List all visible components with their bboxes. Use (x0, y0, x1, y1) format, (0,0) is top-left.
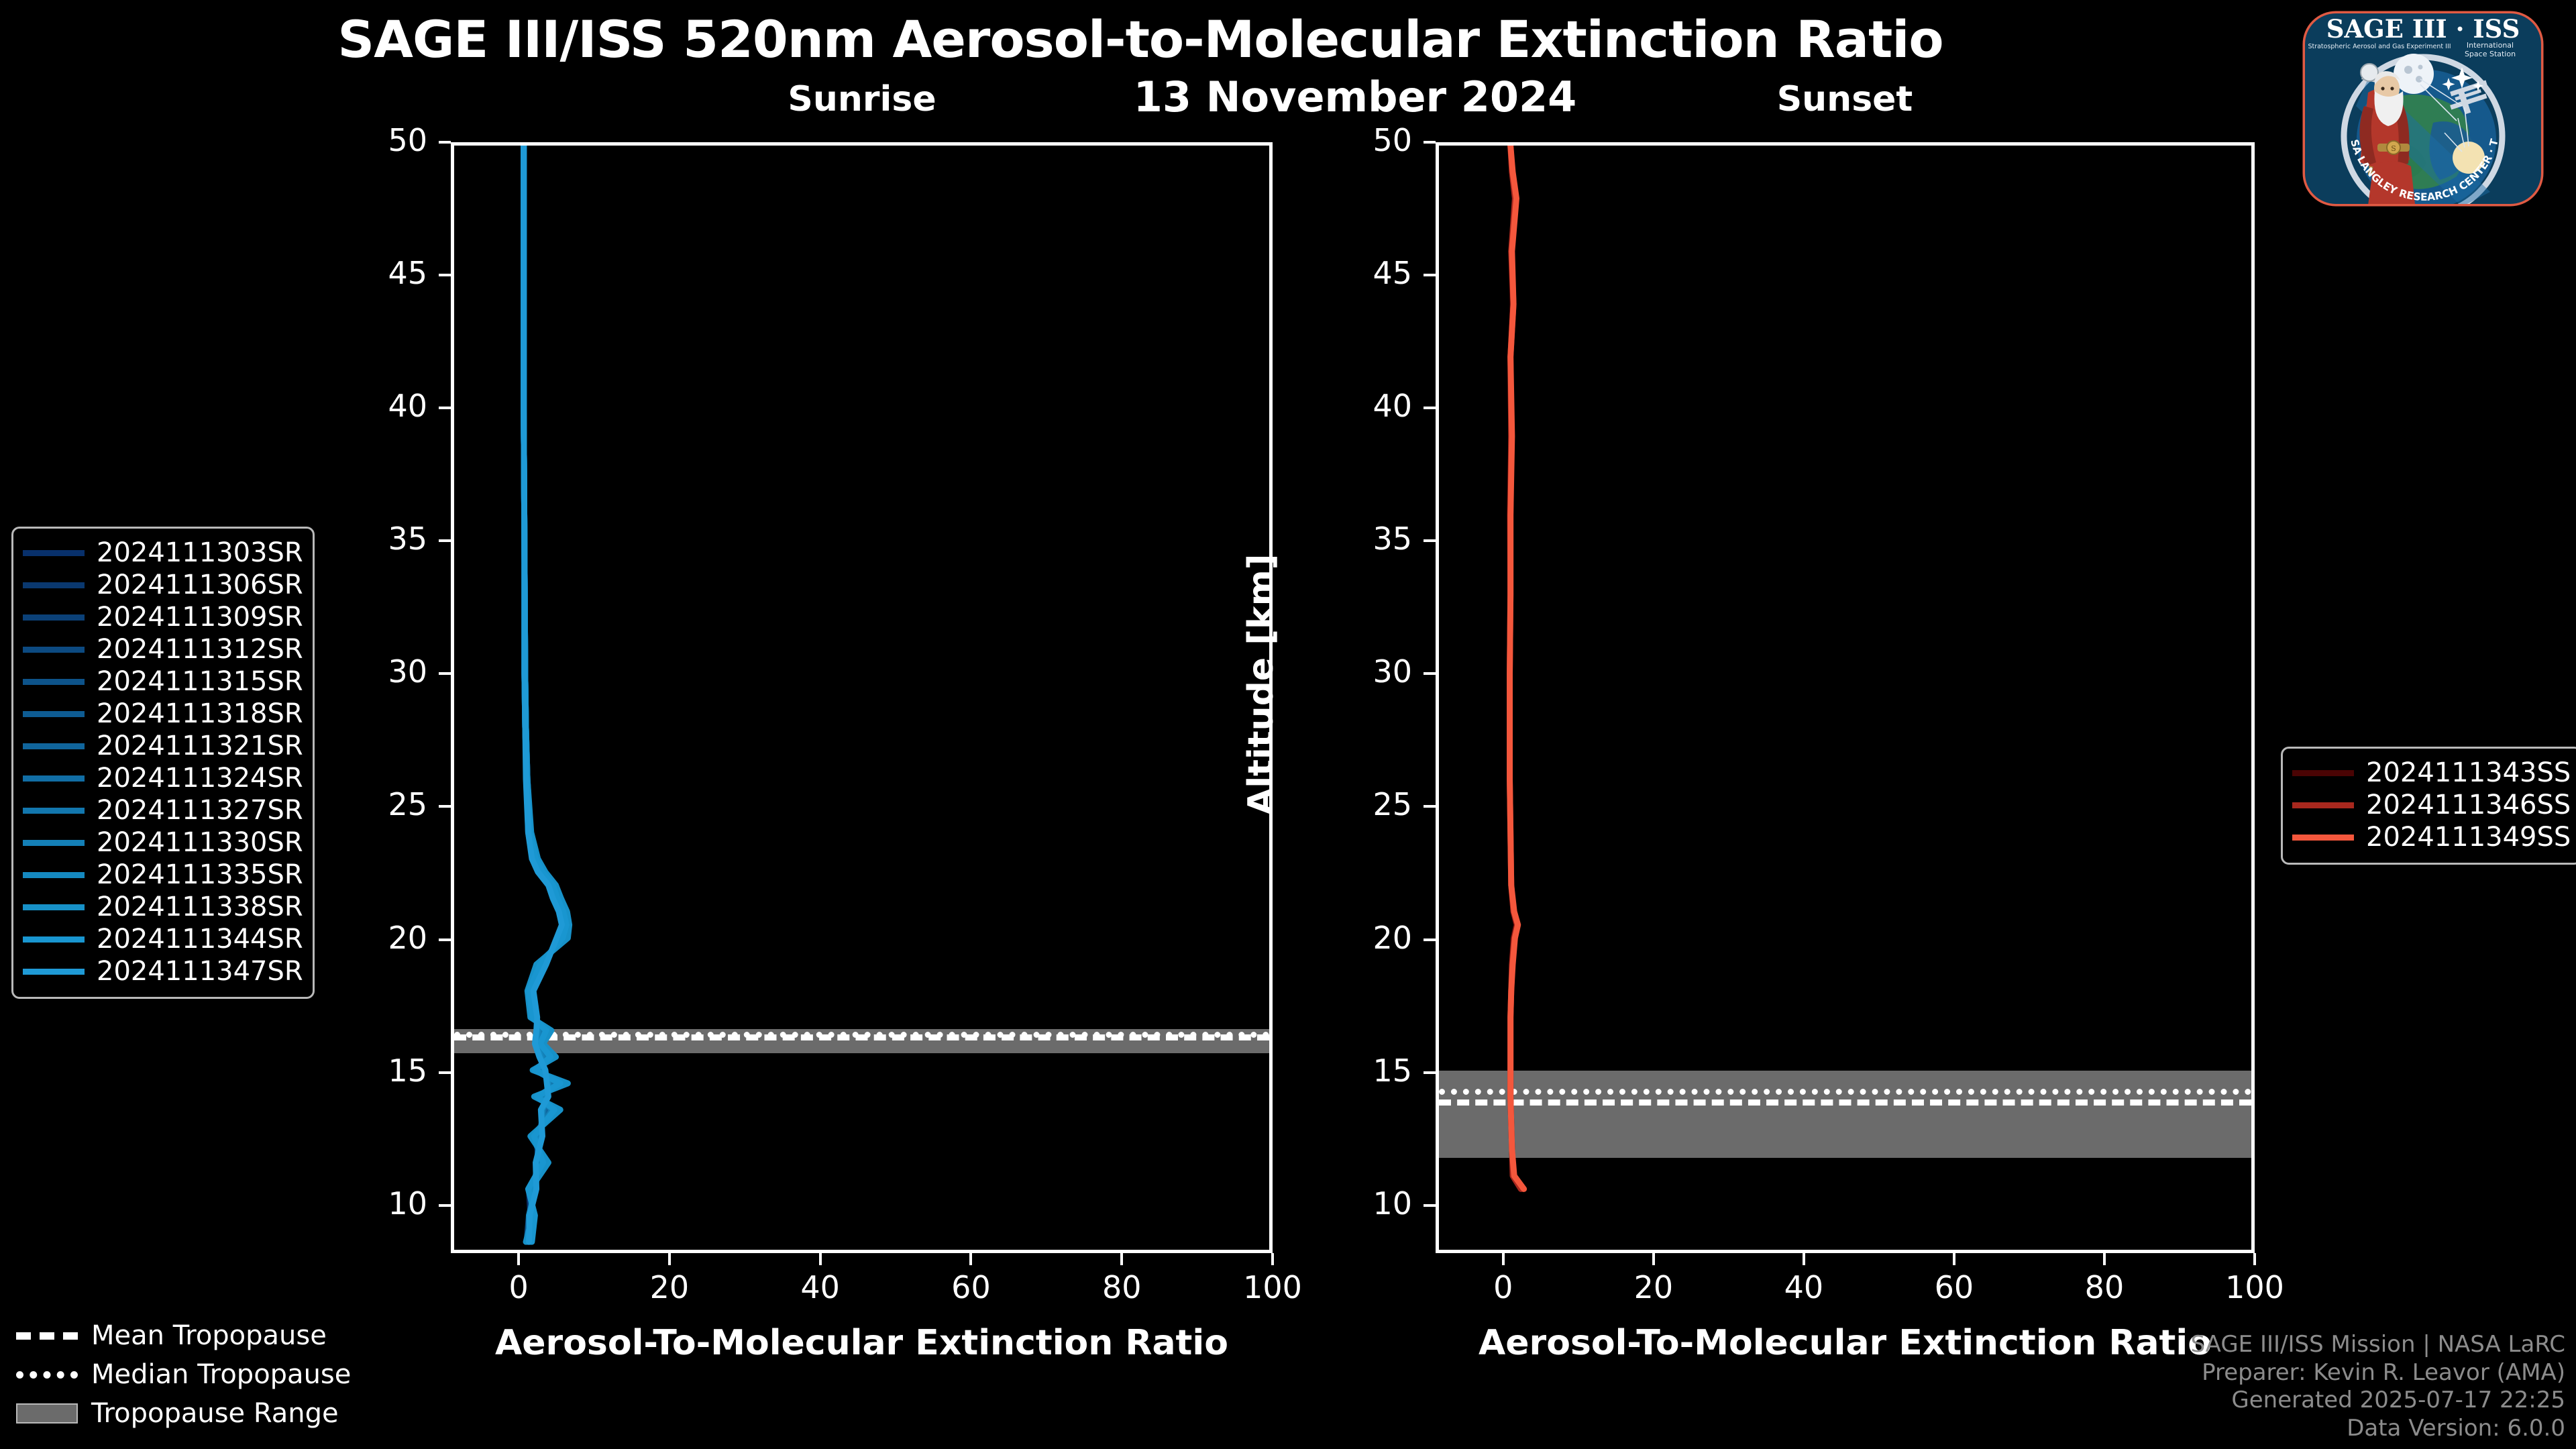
sunrise-legend-item-color-swatch (23, 904, 85, 910)
sunrise-legend-item-color-swatch (23, 582, 85, 588)
sunrise-legend-item-label: 2024111347SR (97, 956, 303, 987)
x-tick-label: 40 (767, 1269, 874, 1305)
sunrise-legend-item-color-swatch (23, 840, 85, 846)
profile-traces (454, 146, 1269, 1250)
sunset-legend-item-label: 2024111343SS (2366, 757, 2571, 788)
sunrise-legend-item-label: 2024111309SR (97, 602, 303, 633)
x-tick-mark (819, 1253, 822, 1265)
y-tick-mark (1424, 407, 1436, 409)
y-tick-label: 40 (297, 388, 427, 424)
sunrise-legend-item-label: 2024111318SR (97, 698, 303, 729)
sunrise-legend-item-row[interactable]: 2024111318SR (23, 698, 303, 730)
date-subtitle: 13 November 2024 (1087, 72, 1623, 121)
logo-subtitle-left: Stratospheric Aerosol and Gas Experiment… (2308, 43, 2451, 50)
logo-subtitle-right-1: International (2467, 41, 2514, 50)
y-tick-label: 30 (297, 653, 427, 690)
y-tick-label: 35 (297, 521, 427, 557)
sunrise-legend-item-color-swatch (23, 711, 85, 717)
x-axis-label: Aerosol-To-Molecular Extinction Ratio (1436, 1323, 2255, 1363)
key-row-range: Tropopause Range (16, 1394, 351, 1433)
sunrise-legend-item-label: 2024111344SR (97, 924, 303, 955)
dashed-line-icon (16, 1332, 78, 1340)
sunset-legend[interactable]: 2024111343SS2024111346SS2024111349SS (2281, 747, 2576, 865)
key-label-median: Median Tropopause (91, 1359, 351, 1390)
sunrise-legend-item-color-swatch (23, 647, 85, 653)
y-tick-label: 25 (1281, 786, 1412, 822)
sunrise-legend-item-label: 2024111315SR (97, 666, 303, 697)
x-tick-label: 0 (465, 1269, 572, 1305)
x-tick-label: 20 (1600, 1269, 1707, 1305)
sunset-legend-item-row[interactable]: 2024111343SS (2292, 757, 2571, 789)
sunrise-legend-item-color-swatch (23, 969, 85, 975)
sunset-plot-panel (1436, 142, 2255, 1253)
credits-block: SAGE III/ISS Mission | NASA LaRC Prepare… (2190, 1331, 2565, 1442)
sunrise-legend-item-color-swatch (23, 743, 85, 749)
y-tick-mark (439, 1071, 451, 1074)
y-tick-mark (1424, 805, 1436, 808)
x-tick-label: 80 (2051, 1269, 2158, 1305)
y-axis-label: Altitude [km] (1241, 553, 1281, 815)
sunrise-legend-item-label: 2024111303SR (97, 537, 303, 568)
key-label-range: Tropopause Range (91, 1398, 339, 1429)
y-tick-label: 10 (1281, 1185, 1412, 1222)
x-tick-label: 100 (1219, 1269, 1326, 1305)
sunset-legend-item-color-swatch (2292, 802, 2354, 808)
credit-line-generated: Generated 2025-07-17 22:25 (2190, 1387, 2565, 1414)
sunrise-plot-panel (451, 142, 1273, 1253)
y-tick-mark (1424, 1071, 1436, 1074)
sunset-legend-item-row[interactable]: 2024111346SS (2292, 789, 2571, 821)
y-tick-label: 20 (297, 920, 427, 956)
x-tick-label: 40 (1750, 1269, 1858, 1305)
x-tick-mark (1652, 1253, 1655, 1265)
y-tick-mark (439, 407, 451, 409)
x-tick-label: 80 (1068, 1269, 1175, 1305)
sunrise-legend-item-color-swatch (23, 550, 85, 556)
y-tick-mark (439, 274, 451, 276)
y-tick-mark (439, 1204, 451, 1207)
sunset-legend-item-label: 2024111349SS (2366, 822, 2571, 853)
y-tick-mark (1424, 141, 1436, 144)
sunset-legend-item-row[interactable]: 2024111349SS (2292, 821, 2571, 853)
x-tick-mark (1803, 1253, 1805, 1265)
sunrise-legend-item-row[interactable]: 2024111321SR (23, 730, 303, 762)
x-tick-mark (517, 1253, 520, 1265)
sunrise-legend-item-label: 2024111306SR (97, 570, 303, 600)
y-tick-label: 10 (297, 1185, 427, 1222)
sunrise-legend[interactable]: 2024111303SR2024111306SR2024111309SR2024… (11, 527, 315, 999)
y-tick-mark (1424, 539, 1436, 542)
sunrise-legend-item-color-swatch (23, 872, 85, 878)
y-tick-label: 20 (1281, 920, 1412, 956)
page-title: SAGE III/ISS 520nm Aerosol-to-Molecular … (0, 9, 2281, 69)
sunrise-panel-label: Sunrise (688, 79, 1036, 119)
sunrise-legend-item-row[interactable]: 2024111338SR (23, 891, 303, 923)
sunrise-legend-item-label: 2024111338SR (97, 892, 303, 922)
sunrise-legend-item-label: 2024111324SR (97, 763, 303, 794)
y-tick-label: 50 (297, 122, 427, 158)
sunrise-legend-item-color-swatch (23, 775, 85, 782)
credit-line-mission: SAGE III/ISS Mission | NASA LaRC (2190, 1331, 2565, 1358)
y-tick-mark (439, 141, 451, 144)
x-tick-mark (1271, 1253, 1274, 1265)
x-tick-label: 60 (917, 1269, 1024, 1305)
profile-traces (1439, 146, 2251, 1250)
sunrise-legend-item-row[interactable]: 2024111306SR (23, 569, 303, 601)
x-tick-label: 100 (2201, 1269, 2308, 1305)
sunset-legend-item-color-swatch (2292, 770, 2354, 776)
x-tick-label: 20 (616, 1269, 723, 1305)
credit-line-preparer: Preparer: Kevin R. Leavor (AMA) (2190, 1359, 2565, 1387)
sunrise-legend-item-color-swatch (23, 936, 85, 943)
y-tick-label: 15 (297, 1053, 427, 1089)
sunrise-legend-item-row[interactable]: 2024111309SR (23, 601, 303, 633)
logo-subtitle-right-2: Space Station (2465, 50, 2516, 58)
x-axis-label: Aerosol-To-Molecular Extinction Ratio (451, 1323, 1273, 1363)
sunrise-legend-item-label: 2024111312SR (97, 634, 303, 665)
tropopause-key: Mean Tropopause Median Tropopause Tropop… (16, 1316, 351, 1433)
y-tick-label: 35 (1281, 521, 1412, 557)
sunrise-legend-item-row[interactable]: 2024111330SR (23, 826, 303, 859)
x-tick-mark (1953, 1253, 1955, 1265)
y-tick-mark (439, 539, 451, 542)
sunrise-legend-item-label: 2024111330SR (97, 827, 303, 858)
x-tick-mark (668, 1253, 671, 1265)
x-tick-mark (2103, 1253, 2106, 1265)
y-tick-mark (439, 672, 451, 675)
y-tick-label: 45 (297, 255, 427, 291)
y-tick-label: 40 (1281, 388, 1412, 424)
y-tick-mark (1424, 672, 1436, 675)
y-tick-label: 30 (1281, 653, 1412, 690)
sunrise-legend-item-color-swatch (23, 679, 85, 685)
y-tick-label: 25 (297, 786, 427, 822)
sunrise-legend-item-row[interactable]: 2024111347SR (23, 955, 303, 987)
sunrise-legend-item-label: 2024111327SR (97, 795, 303, 826)
profile-line-2024111349SS (1510, 146, 1524, 1189)
x-tick-mark (1502, 1253, 1505, 1265)
x-tick-mark (969, 1253, 972, 1265)
sunrise-legend-item-row[interactable]: 2024111312SR (23, 633, 303, 665)
y-tick-label: 15 (1281, 1053, 1412, 1089)
sunrise-legend-item-color-swatch (23, 808, 85, 814)
y-tick-mark (439, 938, 451, 941)
sunset-legend-item-label: 2024111346SS (2366, 790, 2571, 820)
x-tick-mark (1120, 1253, 1123, 1265)
sunrise-legend-item-row[interactable]: 2024111344SR (23, 923, 303, 955)
sunset-legend-item-color-swatch (2292, 835, 2354, 841)
y-tick-mark (1424, 274, 1436, 276)
sunset-panel-label: Sunset (1670, 79, 2019, 119)
y-tick-mark (439, 805, 451, 808)
sunrise-legend-item-row[interactable]: 2024111324SR (23, 762, 303, 794)
sunrise-legend-item-row[interactable]: 2024111327SR (23, 794, 303, 826)
x-tick-label: 60 (1900, 1269, 2008, 1305)
y-tick-label: 50 (1281, 122, 1412, 158)
sunrise-legend-item-label: 2024111335SR (97, 859, 303, 890)
sage-iii-iss-mission-logo: S SAGE III · ISS Stratospheric Aerosol a… (2289, 5, 2557, 233)
svg-text:S: S (2391, 144, 2396, 153)
y-tick-mark (1424, 1204, 1436, 1207)
dotted-line-icon (16, 1371, 78, 1379)
key-row-mean: Mean Tropopause (16, 1316, 351, 1355)
sunrise-legend-item-row[interactable]: 2024111315SR (23, 665, 303, 698)
sunrise-legend-item-color-swatch (23, 614, 85, 621)
sunrise-legend-item-label: 2024111321SR (97, 731, 303, 761)
credit-line-version: Data Version: 6.0.0 (2190, 1415, 2565, 1442)
x-tick-mark (2253, 1253, 2256, 1265)
key-row-median: Median Tropopause (16, 1355, 351, 1394)
sunrise-legend-item-row[interactable]: 2024111335SR (23, 859, 303, 891)
sunrise-legend-item-row[interactable]: 2024111303SR (23, 537, 303, 569)
y-tick-label: 45 (1281, 255, 1412, 291)
x-tick-label: 0 (1450, 1269, 1557, 1305)
shaded-band-icon (16, 1403, 78, 1424)
key-label-mean: Mean Tropopause (91, 1320, 327, 1351)
y-tick-mark (1424, 938, 1436, 941)
logo-title: SAGE III · ISS (2326, 14, 2520, 44)
